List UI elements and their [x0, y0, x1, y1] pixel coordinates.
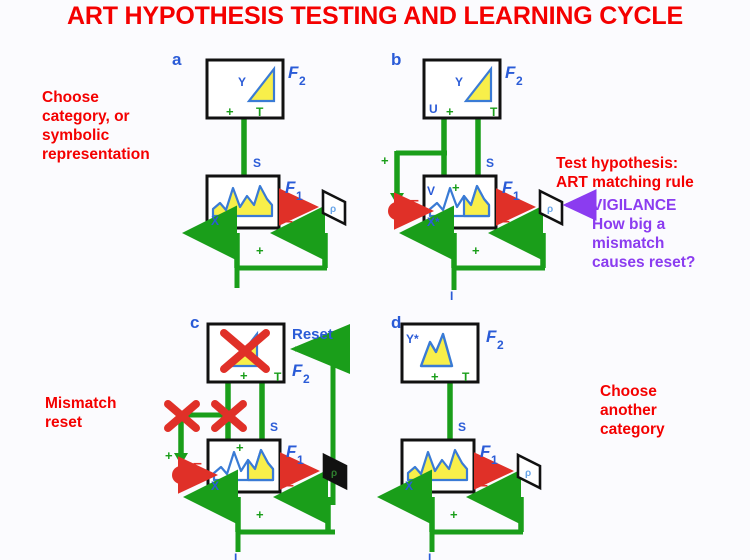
rho-label-c: ρ — [331, 468, 337, 479]
f1-sub-c: 1 — [297, 453, 304, 467]
v-label-b: V — [427, 184, 435, 198]
panel-c: F 2 F 1 X Reset T + + + S + + ρ – – I — [165, 324, 346, 560]
branch-arrowhead-c — [174, 453, 188, 465]
diagram-canvas: ART HYPOTHESIS TESTING AND LEARNING CYCL… — [0, 0, 750, 560]
minus-right-c: – — [285, 477, 294, 494]
rho-label-a: ρ — [330, 204, 336, 215]
plus-f2-b: + — [446, 104, 454, 119]
panel-d: F 2 F 1 Y* X T + S + + ρ – I — [402, 324, 540, 560]
f1-label-c: F — [286, 442, 297, 461]
f2-label-d: F — [486, 327, 497, 346]
s-label-a: S — [253, 156, 261, 170]
t-label-a: T — [256, 105, 264, 119]
f1-sub-d: 1 — [491, 453, 498, 467]
plus-f1-right-d: + — [505, 507, 513, 522]
plus-f1-left-b: + — [472, 243, 480, 258]
input-label-d: I — [428, 551, 431, 560]
s-label-b: S — [486, 156, 494, 170]
f2-node-label-d: Y* — [406, 332, 419, 346]
t-label-b: T — [490, 105, 498, 119]
plus-f1-right-c: + — [312, 507, 320, 522]
minus-left-b: – — [410, 192, 419, 209]
minus-right-b: – — [501, 213, 510, 230]
minus-label-d: – — [479, 477, 488, 494]
rho-label-b: ρ — [547, 204, 553, 215]
f1-node-label-c: X — [211, 479, 219, 493]
minus-label-a: – — [284, 213, 293, 230]
t-label-c: T — [274, 370, 282, 384]
rho-label-d: ρ — [525, 468, 531, 479]
plus-f1-left-c: + — [256, 507, 264, 522]
f1-sub-b: 1 — [513, 189, 520, 203]
panel-b: F 2 F 1 Y X* T U V + + + S + + ρ – – I — [381, 60, 588, 303]
f1-node-label-d: X — [405, 479, 413, 493]
circuit-graphics: F 2 F 1 Y X T + S + + ρ – — [0, 0, 750, 560]
f1-label-d: F — [480, 442, 491, 461]
plus-f1-right-a: + — [310, 243, 318, 258]
input-label-c: I — [234, 551, 237, 560]
plus-f2-c: + — [240, 368, 248, 383]
f1-node-label-a: X — [211, 214, 219, 228]
reset-label-c: Reset — [292, 326, 333, 343]
plus-v-b: + — [452, 180, 460, 195]
f2-label-b: F — [505, 63, 516, 82]
plus-f2-d: + — [431, 369, 439, 384]
plus-f1-right-b: + — [527, 243, 535, 258]
u-label-b: U — [429, 102, 438, 116]
f2-sub-a: 2 — [299, 74, 306, 88]
plus-f1-left-a: + — [256, 243, 264, 258]
t-label-d: T — [462, 370, 470, 384]
f1-node-label-b: X* — [427, 215, 440, 229]
f2-label-a: F — [288, 63, 299, 82]
s-label-c: S — [270, 420, 278, 434]
f2-label-c: F — [292, 361, 303, 380]
plus-f2-a: + — [226, 104, 234, 119]
f1-label-b: F — [502, 178, 513, 197]
f1-sub-a: 1 — [296, 189, 303, 203]
plus-v-c: + — [236, 440, 244, 455]
f2-node-label-a: Y — [238, 75, 246, 89]
minus-left-c: – — [193, 455, 202, 472]
plus-left-branch-c: + — [165, 448, 173, 463]
f2-sub-d: 2 — [497, 338, 504, 352]
panel-a: F 2 F 1 Y X T + S + + ρ – — [207, 60, 345, 288]
input-label-b: I — [450, 289, 453, 303]
plus-left-branch-b: + — [381, 153, 389, 168]
plus-f1-left-d: + — [450, 507, 458, 522]
f2-node-label-b: Y — [455, 75, 463, 89]
s-label-d: S — [458, 420, 466, 434]
f2-sub-b: 2 — [516, 74, 523, 88]
f2-sub-c: 2 — [303, 372, 310, 386]
f1-label-a: F — [285, 178, 296, 197]
